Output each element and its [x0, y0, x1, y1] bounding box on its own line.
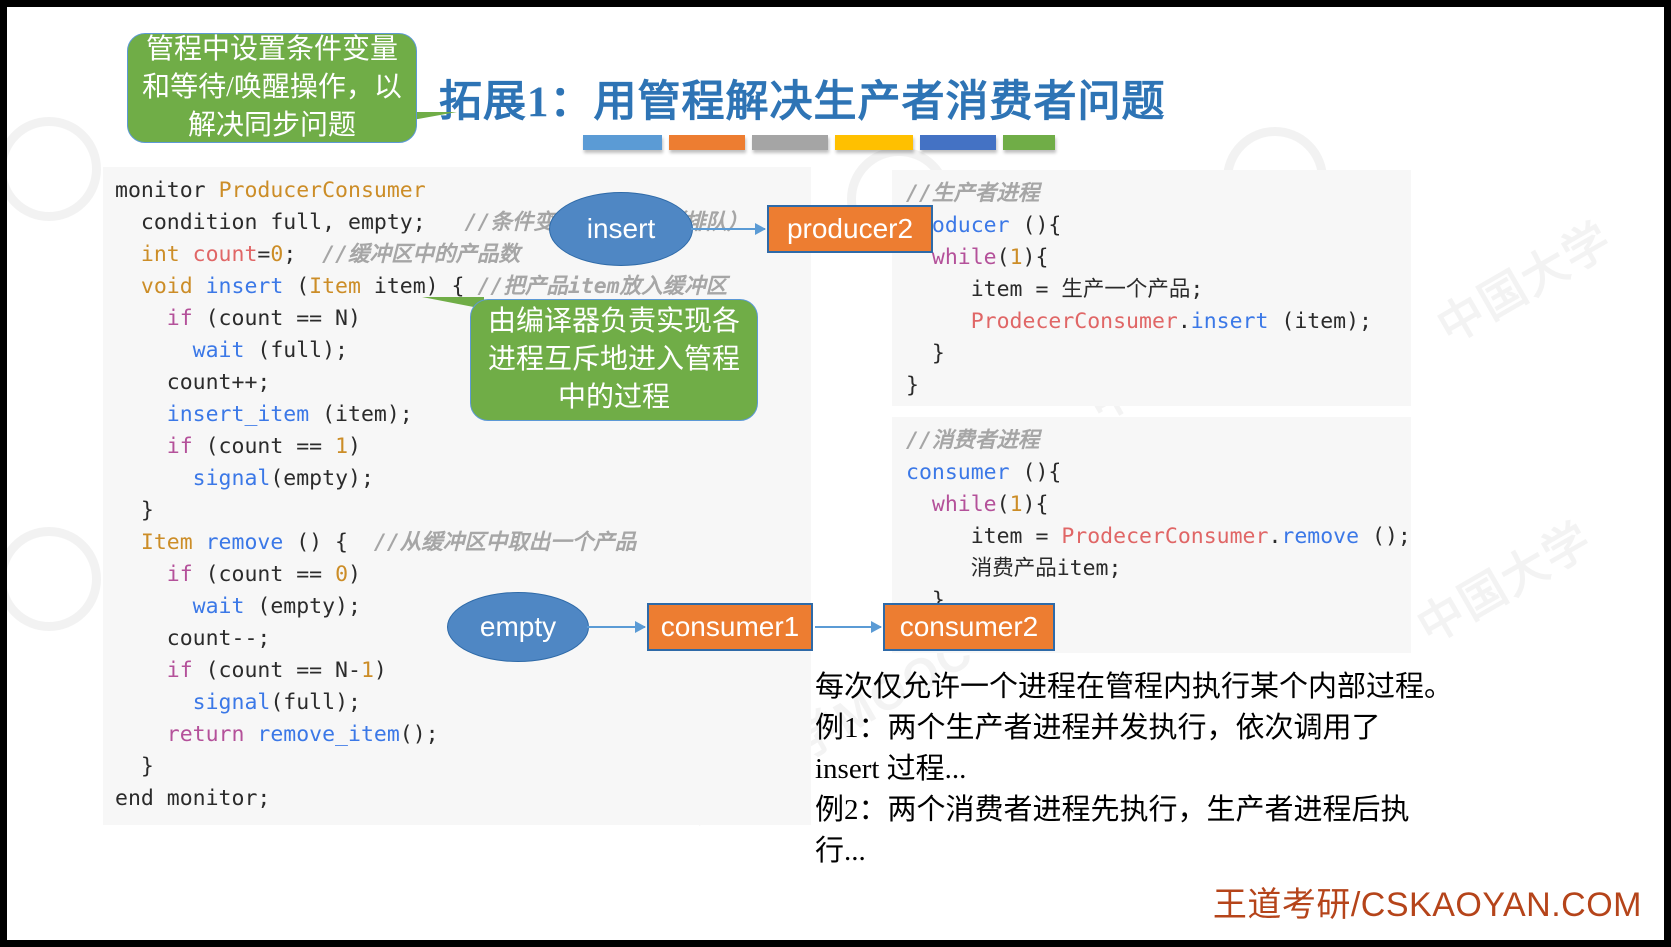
- arrow-consumer1-to-consumer2: [815, 626, 881, 628]
- note-line-5: 行...: [815, 831, 1515, 872]
- node-box-producer2[interactable]: producer2: [767, 205, 933, 253]
- explanatory-note: 每次仅允许一个进程在管程内执行某个内部过程。 例1：两个生产者进程并发执行，依次…: [815, 667, 1515, 872]
- note-line-2: 例1：两个生产者进程并发执行，依次调用了: [815, 708, 1515, 749]
- watermark-ring: [0, 117, 101, 221]
- note-line-3: insert 过程...: [815, 749, 1515, 790]
- watermark-ring: [0, 527, 101, 631]
- slide-canvas: 中国大学MOOC 中国大学MOOC 中国大学MOOC 中国大学 中国大学 中国大…: [0, 0, 1671, 947]
- accent-bar-strip: [583, 135, 1055, 150]
- producer-code-panel: //生产者进程 producer (){ while(1){ item = 生产…: [892, 170, 1411, 406]
- watermark-text: 中国大学: [1423, 203, 1622, 356]
- callout-compiler-mutex-note: 由编译器负责实现各进程互斥地进入管程中的过程: [470, 299, 758, 421]
- watermark-text: 中国大学: [1403, 503, 1602, 656]
- node-box-consumer1[interactable]: consumer1: [647, 603, 813, 651]
- page-title: 拓展1：用管程解决生产者消费者问题: [439, 67, 1199, 129]
- accent-bar-5: [920, 135, 996, 150]
- monitor-code-panel: monitor ProducerConsumer condition full,…: [103, 167, 811, 825]
- note-line-4: 例2：两个消费者进程先执行，生产者进程后执: [815, 790, 1515, 831]
- arrow-empty-to-consumer1: [587, 626, 645, 628]
- brand-watermark: 王道考研/CSKAOYAN.COM: [1213, 877, 1642, 926]
- accent-bar-6: [1003, 135, 1055, 150]
- node-ellipse-insert[interactable]: insert: [549, 192, 693, 266]
- accent-bar-1: [583, 135, 662, 150]
- node-box-consumer2[interactable]: consumer2: [883, 603, 1055, 651]
- arrow-insert-to-producer2: [691, 228, 765, 230]
- callout-condition-variable-note: 管程中设置条件变量和等待/唤醒操作，以解决同步问题: [127, 33, 417, 143]
- accent-bar-4: [835, 135, 913, 150]
- accent-bar-2: [669, 135, 745, 150]
- accent-bar-3: [752, 135, 828, 150]
- node-ellipse-empty[interactable]: empty: [447, 592, 589, 662]
- note-line-1: 每次仅允许一个进程在管程内执行某个内部过程。: [815, 667, 1515, 708]
